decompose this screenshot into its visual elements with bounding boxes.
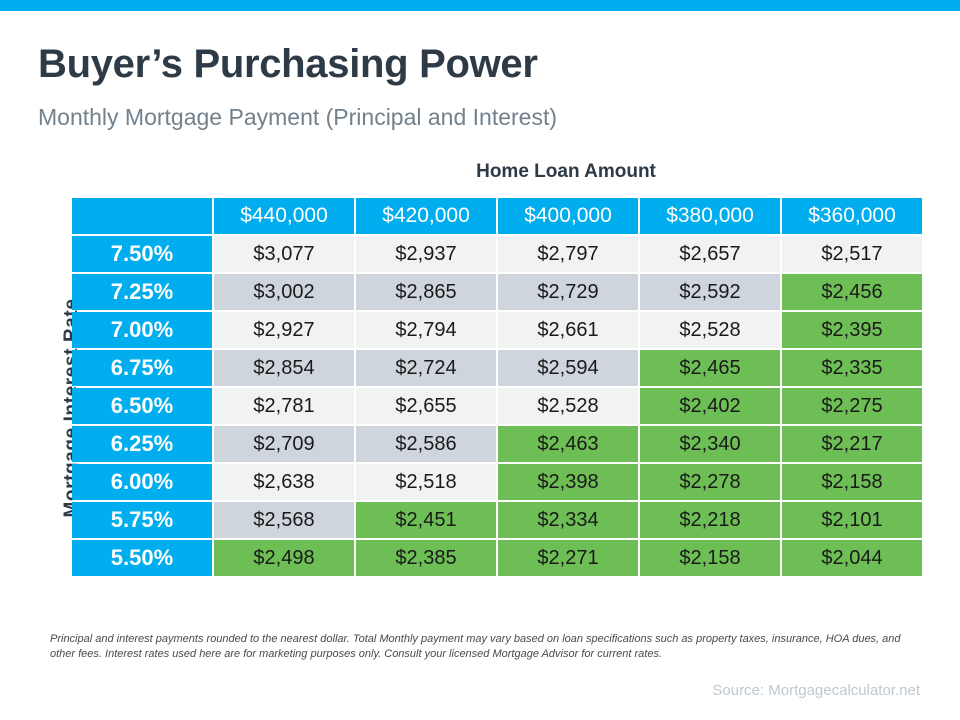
payment-cell: $2,661 <box>498 312 638 348</box>
table-row: 6.75%$2,854$2,724$2,594$2,465$2,335 <box>72 350 922 386</box>
row-header-rate-7-50pct: 7.50% <box>72 236 212 272</box>
row-header-rate-7-25pct: 7.25% <box>72 274 212 310</box>
payment-cell: $2,398 <box>498 464 638 500</box>
column-header-5: $360,000 <box>782 198 922 234</box>
payment-cell: $2,586 <box>356 426 496 462</box>
column-header-3: $400,000 <box>498 198 638 234</box>
payment-cell: $2,335 <box>782 350 922 386</box>
payment-cell: $2,638 <box>214 464 354 500</box>
payment-cell: $2,465 <box>640 350 780 386</box>
table-row: 7.50%$3,077$2,937$2,797$2,657$2,517 <box>72 236 922 272</box>
table-row: 6.50%$2,781$2,655$2,528$2,402$2,275 <box>72 388 922 424</box>
row-header-rate-6-75pct: 6.75% <box>72 350 212 386</box>
payment-cell: $2,101 <box>782 502 922 538</box>
table-row: 7.00%$2,927$2,794$2,661$2,528$2,395 <box>72 312 922 348</box>
payment-cell: $2,568 <box>214 502 354 538</box>
row-header-rate-6-50pct: 6.50% <box>72 388 212 424</box>
table-row: 7.25%$3,002$2,865$2,729$2,592$2,456 <box>72 274 922 310</box>
payment-cell: $2,498 <box>214 540 354 576</box>
table-row: 5.75%$2,568$2,451$2,334$2,218$2,101 <box>72 502 922 538</box>
payment-cell: $2,451 <box>356 502 496 538</box>
payment-cell: $2,517 <box>782 236 922 272</box>
payment-cell: $2,794 <box>356 312 496 348</box>
payment-cell: $2,528 <box>640 312 780 348</box>
payment-cell: $2,395 <box>782 312 922 348</box>
table-head: $440,000$420,000$400,000$380,000$360,000 <box>72 198 922 234</box>
payment-cell: $2,456 <box>782 274 922 310</box>
table-corner-cell <box>72 198 212 234</box>
page-title: Buyer’s Purchasing Power <box>38 42 538 87</box>
payment-cell: $2,729 <box>498 274 638 310</box>
table-row: 5.50%$2,498$2,385$2,271$2,158$2,044 <box>72 540 922 576</box>
payment-cell: $2,927 <box>214 312 354 348</box>
payment-cell: $2,044 <box>782 540 922 576</box>
payment-cell: $2,518 <box>356 464 496 500</box>
column-group-label: Home Loan Amount <box>212 161 920 183</box>
payment-cell: $2,340 <box>640 426 780 462</box>
payment-cell: $2,781 <box>214 388 354 424</box>
payment-cell: $2,158 <box>640 540 780 576</box>
payment-cell: $2,217 <box>782 426 922 462</box>
payment-cell: $2,592 <box>640 274 780 310</box>
payment-cell: $2,854 <box>214 350 354 386</box>
payment-cell: $2,334 <box>498 502 638 538</box>
payment-cell: $2,385 <box>356 540 496 576</box>
payment-cell: $2,709 <box>214 426 354 462</box>
payment-cell: $2,657 <box>640 236 780 272</box>
column-header-1: $440,000 <box>214 198 354 234</box>
payment-cell: $2,655 <box>356 388 496 424</box>
payment-cell: $3,002 <box>214 274 354 310</box>
purchasing-power-table: $440,000$420,000$400,000$380,000$360,000… <box>70 196 924 578</box>
table-header-row: $440,000$420,000$400,000$380,000$360,000 <box>72 198 922 234</box>
payment-cell: $2,865 <box>356 274 496 310</box>
payment-cell: $2,594 <box>498 350 638 386</box>
table-body: 7.50%$3,077$2,937$2,797$2,657$2,5177.25%… <box>72 236 922 576</box>
payment-cell: $2,402 <box>640 388 780 424</box>
disclaimer-footnote: Principal and interest payments rounded … <box>50 632 910 662</box>
top-accent-bar <box>0 0 960 11</box>
row-header-rate-6-00pct: 6.00% <box>72 464 212 500</box>
page-subtitle: Monthly Mortgage Payment (Principal and … <box>38 104 557 131</box>
payment-cell: $2,937 <box>356 236 496 272</box>
table-row: 6.00%$2,638$2,518$2,398$2,278$2,158 <box>72 464 922 500</box>
payment-cell: $2,275 <box>782 388 922 424</box>
payment-cell: $2,528 <box>498 388 638 424</box>
payment-cell: $2,724 <box>356 350 496 386</box>
row-header-rate-6-25pct: 6.25% <box>72 426 212 462</box>
source-attribution: Source: Mortgagecalculator.net <box>712 682 920 699</box>
payment-cell: $3,077 <box>214 236 354 272</box>
payment-cell: $2,797 <box>498 236 638 272</box>
payment-cell: $2,218 <box>640 502 780 538</box>
payment-cell: $2,158 <box>782 464 922 500</box>
row-header-rate-5-75pct: 5.75% <box>72 502 212 538</box>
payment-cell: $2,278 <box>640 464 780 500</box>
row-header-rate-7-00pct: 7.00% <box>72 312 212 348</box>
column-header-4: $380,000 <box>640 198 780 234</box>
column-header-2: $420,000 <box>356 198 496 234</box>
payment-cell: $2,463 <box>498 426 638 462</box>
row-header-rate-5-50pct: 5.50% <box>72 540 212 576</box>
table-row: 6.25%$2,709$2,586$2,463$2,340$2,217 <box>72 426 922 462</box>
payment-cell: $2,271 <box>498 540 638 576</box>
